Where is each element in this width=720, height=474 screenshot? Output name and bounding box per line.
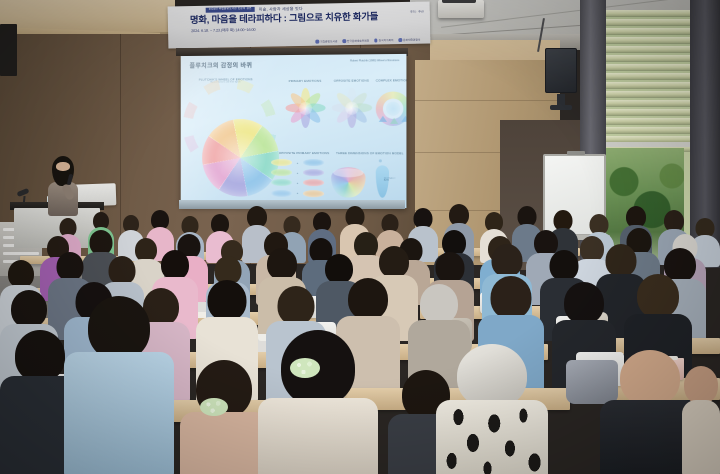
speaker-person <box>44 158 82 214</box>
pair-operator: + <box>295 161 300 165</box>
pair-right-swatch <box>303 159 324 166</box>
lecture-hall-photo: 2024년 국립중앙도서관 인문학 강연 미술, 사람과 세상을 잇다 명화, … <box>0 0 720 474</box>
pair-row: + <box>271 169 324 176</box>
banner-logo-0: 국립중앙도서관 <box>316 39 338 43</box>
pair-left-swatch <box>271 169 292 176</box>
pair-row: + <box>271 159 324 166</box>
attendee-blue-shirt <box>64 296 174 474</box>
pair-right-swatch <box>303 169 324 176</box>
pair-operator: + <box>295 181 300 185</box>
banner-host-label: 주최 · 주관 <box>410 10 424 14</box>
attendee-cream-top <box>258 330 378 474</box>
window-frame <box>600 142 692 147</box>
caption-three-dimensions: THREE DIMENSIONS OF EMOTION MODEL <box>331 151 406 155</box>
ceiling-projector <box>438 0 484 18</box>
caption-opposite-primary: OPPOSITE PRIMARY EMOTIONS <box>267 151 341 155</box>
wall-monitor <box>545 48 577 93</box>
hair-scrunchie <box>290 358 320 378</box>
pair-right-swatch <box>303 179 324 186</box>
banner-title: 명화, 마음을 테라피하다 : 그림으로 치유한 화가들 <box>190 11 422 26</box>
projection-screen-bottom-bar <box>179 200 405 209</box>
ring-wheel-complex-emotions <box>376 91 407 126</box>
attendee <box>180 360 268 474</box>
banner-date: 2024. 6.18. ~ 7.23.(매주 화) 14:00~16:00 <box>191 28 256 34</box>
banner-kicker: 2024년 국립중앙도서관 인문학 강연 <box>206 7 255 13</box>
pair-row: + <box>271 189 324 196</box>
hair-scrunchie <box>200 398 228 416</box>
banner-logo-2: 한국작가회의 <box>374 38 393 42</box>
slide-credit: Robert Plutchik (1980) Wheel of Emotions <box>350 59 399 63</box>
slide-title: 플루치크의 감정의 바퀴 <box>189 60 252 69</box>
emotion-cone-diagram <box>331 167 365 197</box>
pair-right-swatch <box>303 190 324 197</box>
pair-left-swatch <box>271 189 292 196</box>
flower-opposite-emotions <box>334 91 368 125</box>
event-banner: 2024년 국립중앙도서관 인문학 강연 미술, 사람과 세상을 잇다 명화, … <box>168 1 431 48</box>
plutchik-wheel-main <box>191 87 268 165</box>
projection-screen: 플루치크의 감정의 바퀴 Robert Plutchik (1980) Whee… <box>181 54 407 208</box>
decorative-dot <box>379 159 382 162</box>
caption-complex-emotions: COMPLEX EMOTIONS <box>363 78 407 82</box>
cone-axis-label: INTENSITY AXIS <box>384 178 400 182</box>
banner-logo-3: 문화체육관광부 <box>398 38 420 42</box>
attendee-white-hair-leopard <box>436 344 548 474</box>
pair-left-swatch <box>271 159 292 166</box>
wall-speaker-box <box>0 24 17 76</box>
pair-left-swatch <box>271 179 292 186</box>
flower-primary-emotions <box>288 91 322 125</box>
opposite-pairs-list: + + + + <box>271 159 324 200</box>
pair-row: + <box>271 179 324 186</box>
pair-operator: + <box>295 191 300 195</box>
banner-logo-1: 한국문화예술위원회 <box>342 39 369 44</box>
pair-operator: + <box>295 171 300 175</box>
attendee <box>682 366 720 474</box>
banner-logos: 국립중앙도서관 한국문화예술위원회 한국작가회의 문화체육관광부 <box>316 38 421 44</box>
